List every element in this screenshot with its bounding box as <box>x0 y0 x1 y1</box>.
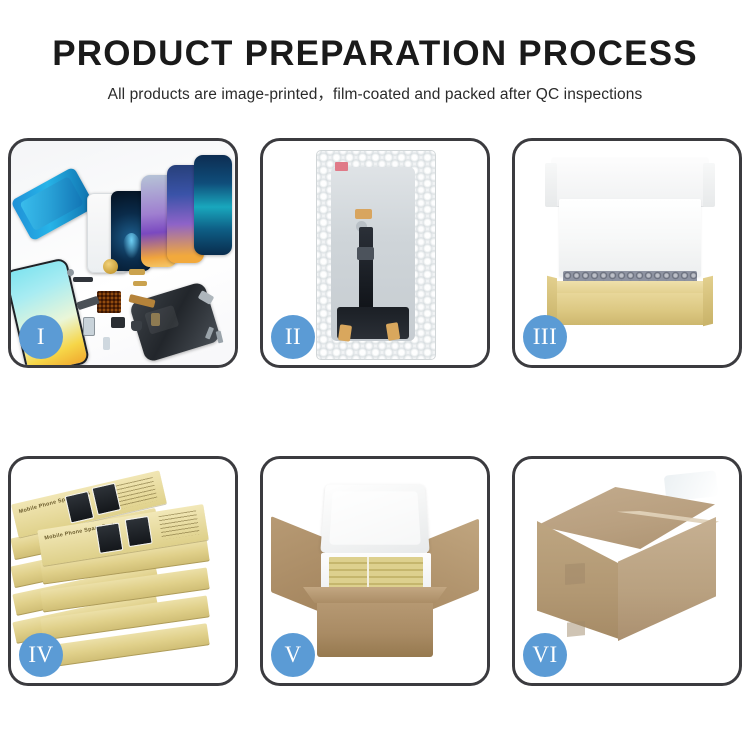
gold-contact-right <box>386 322 401 341</box>
step-badge-5: V <box>271 633 315 677</box>
step-badge-2: II <box>271 315 315 359</box>
process-step-panel-3[interactable]: III <box>512 138 742 368</box>
box-lid-thumb-front-a <box>95 522 123 553</box>
connector-grid-component <box>97 291 121 313</box>
flex-cable-component-b <box>133 281 147 286</box>
gold-coil-component <box>103 259 118 274</box>
kraft-box-front <box>551 293 709 325</box>
step-badge-4: IV <box>19 633 63 677</box>
red-qc-label <box>335 162 348 171</box>
process-step-panel-5[interactable]: V <box>260 456 490 686</box>
carton-tape-tab-upper <box>565 563 585 585</box>
button-component <box>103 337 110 350</box>
step-badge-6: VI <box>523 633 567 677</box>
box-spec-lines-front <box>158 510 199 540</box>
blue-screen-part <box>11 166 96 241</box>
white-foam-sheet <box>559 199 701 277</box>
process-step-panel-4[interactable]: Mobile Phone Spare Parts Mobile Phone Sp… <box>8 456 238 686</box>
speaker-component <box>131 321 142 331</box>
step-badge-3: III <box>523 315 567 359</box>
page-subtitle: All products are image-printed，film-coat… <box>0 82 750 104</box>
process-steps-grid: I II <box>8 138 742 686</box>
process-step-panel-2[interactable]: II <box>260 138 490 368</box>
vibrator-component <box>151 313 160 326</box>
gold-contact-left <box>338 324 352 342</box>
page-title: PRODUCT PREPARATION PROCESS <box>0 34 750 73</box>
product-preparation-page: PRODUCT PREPARATION PROCESS All products… <box>0 0 750 750</box>
teal-wave-phone <box>194 155 232 255</box>
driver-ic <box>357 247 374 260</box>
process-step-panel-1[interactable]: I <box>8 138 238 368</box>
box-lid-thumb-front-b <box>125 516 153 547</box>
screw-component-b <box>216 331 224 344</box>
gold-tab <box>355 209 372 219</box>
page-header: PRODUCT PREPARATION PROCESS All products… <box>0 0 750 104</box>
step-badge-1: I <box>19 315 63 359</box>
foam-lid <box>320 484 430 553</box>
earpiece-component <box>73 277 93 282</box>
carton-tape-tab-lower <box>567 621 585 637</box>
sim-tray-component <box>83 317 95 336</box>
wrapped-screen-assembly <box>331 167 415 341</box>
process-step-panel-6[interactable]: VI <box>512 456 742 686</box>
bubble-wrap-bag <box>317 151 435 359</box>
display-flex-cable <box>359 227 373 313</box>
carton-body <box>317 599 433 657</box>
box-spec-lines-back <box>116 477 158 509</box>
camera-lens-component <box>67 269 74 276</box>
flex-cable-component-a <box>129 269 145 275</box>
chip-component <box>111 317 125 328</box>
